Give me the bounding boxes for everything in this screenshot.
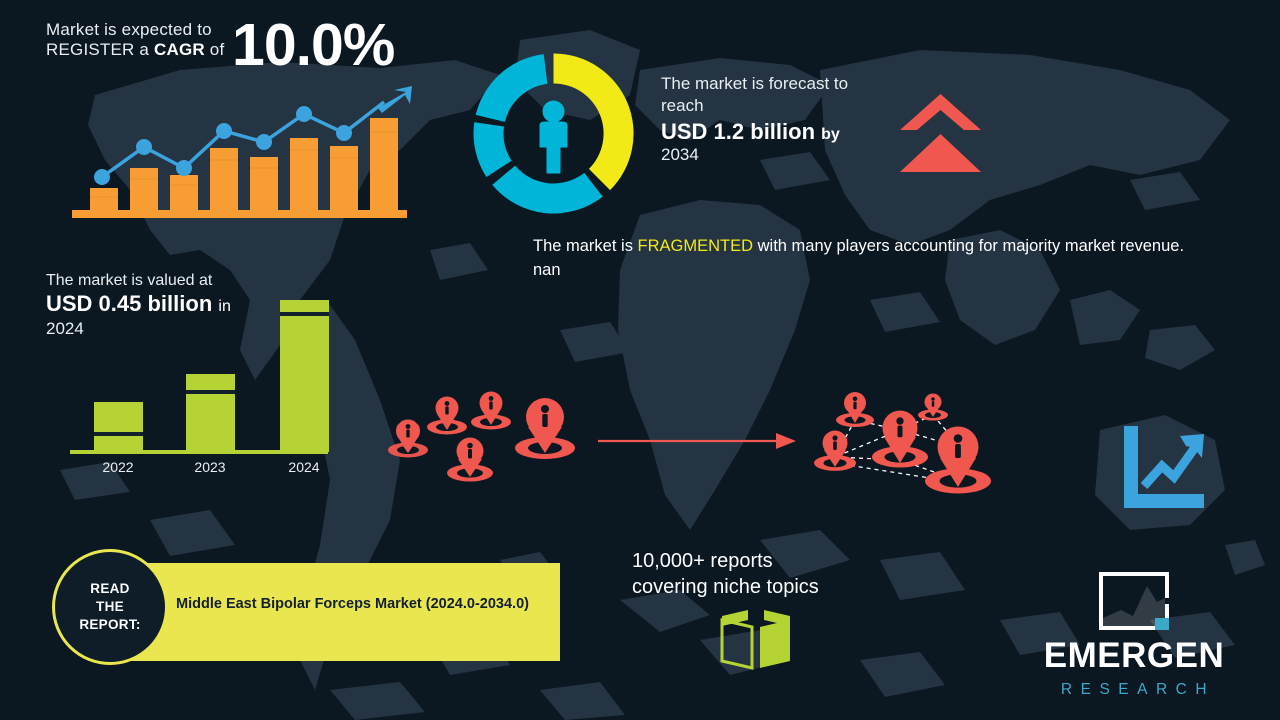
cagr-keyword: CAGR xyxy=(154,40,205,59)
forecast-value-row: USD 1.2 billion by xyxy=(661,118,911,146)
forecast-text-block: The market is forecast to reach USD 1.2 … xyxy=(661,73,911,165)
right-arrow-icon xyxy=(596,430,801,452)
map-pin-large xyxy=(515,398,575,459)
x-tick-2023: 2023 xyxy=(194,459,225,472)
pins-cluster-right xyxy=(805,385,1015,500)
market-share-donut xyxy=(466,46,641,221)
donut-segment-a xyxy=(554,53,634,190)
growth-trend-bars xyxy=(60,80,430,225)
reports-line-2: covering niche topics xyxy=(632,574,819,600)
map-pin xyxy=(836,392,874,427)
map-pin xyxy=(471,392,511,430)
fragmented-highlight: FRAGMENTED xyxy=(638,237,754,255)
forecast-year: 2034 xyxy=(661,145,911,165)
map-pin-large xyxy=(925,427,991,494)
pins-cluster-left xyxy=(385,385,590,495)
emergen-research-logo: EMERGEN RESEARCH xyxy=(1019,568,1249,699)
open-book-icon xyxy=(718,608,794,670)
historical-value-bars: 2022 2023 2024 xyxy=(70,292,335,472)
forecast-line-2: reach xyxy=(661,95,911,117)
forecast-value: USD 1.2 billion xyxy=(661,119,815,144)
bar-series xyxy=(94,300,329,452)
infographic-canvas: Market is expected to REGISTER a CAGR of… xyxy=(0,0,1280,720)
forecast-by: by xyxy=(821,126,840,143)
donut-segment-c xyxy=(474,122,512,177)
logo-mark-icon xyxy=(1095,568,1173,634)
chart-baseline xyxy=(72,210,407,218)
valued-lead: The market is valued at xyxy=(46,272,316,290)
forecast-line-1: The market is forecast to xyxy=(661,73,911,95)
map-pin xyxy=(918,394,948,421)
donut-segment-d xyxy=(476,54,548,122)
reports-text-block: 10,000+ reports covering niche topics xyxy=(632,548,819,600)
x-tick-2022: 2022 xyxy=(102,459,133,472)
fragmented-prefix: The market is xyxy=(533,237,638,255)
line-chart-icon xyxy=(1118,424,1208,512)
x-tick-2024: 2024 xyxy=(288,459,319,472)
cagr-line2-prefix: REGISTER a xyxy=(46,40,154,59)
bar-2024 xyxy=(280,300,329,452)
logo-subtitle: RESEARCH xyxy=(1019,681,1249,699)
reports-line-1: 10,000+ reports xyxy=(632,548,819,574)
read-the-report-button[interactable]: READTHEREPORT: xyxy=(52,549,168,665)
logo-name: EMERGEN xyxy=(1019,638,1249,673)
map-pin xyxy=(447,438,493,482)
report-title: Middle East Bipolar Forceps Market (2024… xyxy=(176,591,546,619)
fragmented-text-block: The market is FRAGMENTED with many playe… xyxy=(533,235,1205,283)
cagr-line2-suffix: of xyxy=(205,40,225,59)
bar-2022 xyxy=(94,402,143,452)
trend-up-arrow-icon xyxy=(378,86,412,113)
read-the-report-label: READTHEREPORT: xyxy=(79,580,140,635)
chart-baseline xyxy=(70,450,328,454)
map-pin-large xyxy=(872,411,928,468)
map-pin xyxy=(388,419,428,458)
bar-2023 xyxy=(186,374,235,452)
double-chevron-up-icon xyxy=(898,92,983,177)
map-pin xyxy=(427,397,467,435)
read-report-banner[interactable]: Middle East Bipolar Forceps Market (2024… xyxy=(106,563,560,661)
map-pin xyxy=(814,431,856,471)
cagr-value: 10.0% xyxy=(232,16,394,75)
person-icon xyxy=(540,101,568,174)
